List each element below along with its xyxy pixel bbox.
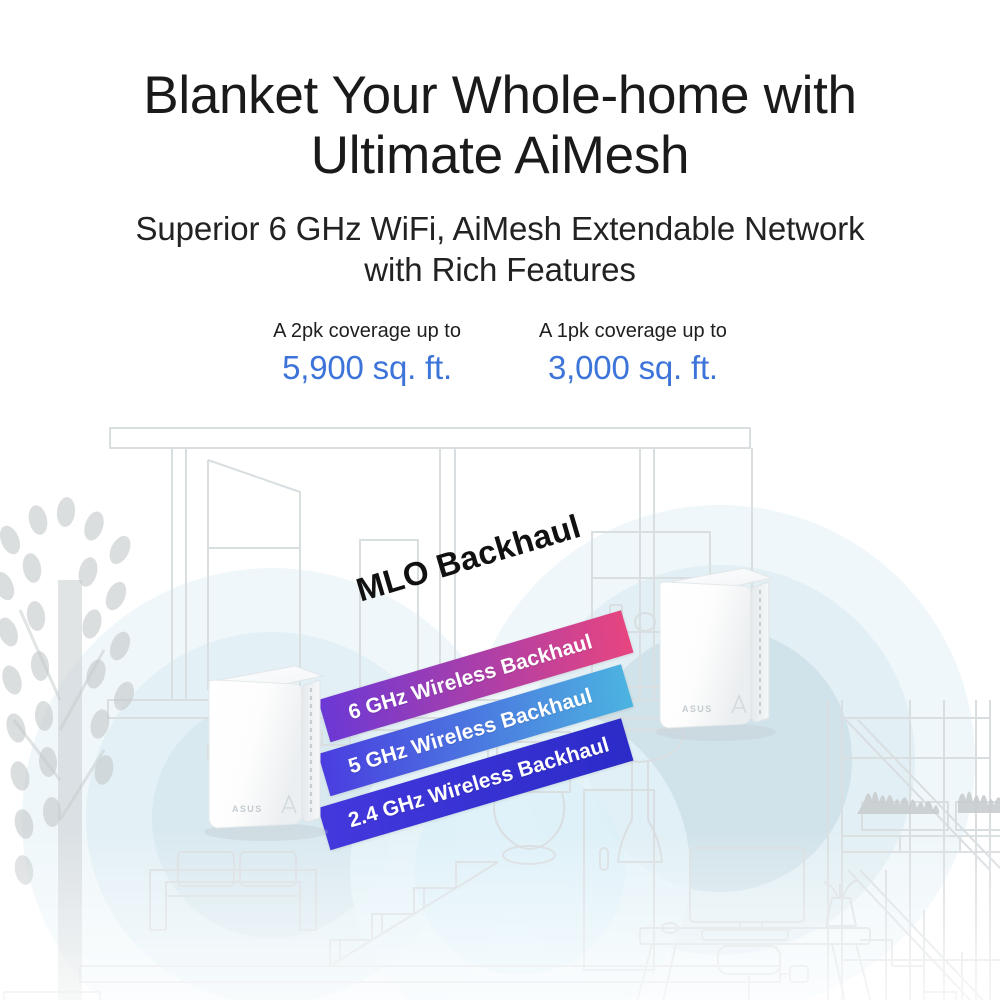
stat-2pk-label: A 2pk coverage up to bbox=[273, 318, 461, 344]
stat-1pk-label: A 1pk coverage up to bbox=[539, 318, 727, 344]
asus-logo: ASUS bbox=[232, 804, 263, 814]
promo-banner: ASUS bbox=[0, 0, 1000, 1000]
asus-logo: ASUS bbox=[682, 704, 713, 714]
page-title: Blanket Your Whole-home with Ultimate Ai… bbox=[0, 0, 1000, 186]
stat-2pk-value: 5,900 sq. ft. bbox=[282, 347, 452, 389]
subhead-line-2: with Rich Features bbox=[0, 249, 1000, 290]
headline-line-2: Ultimate AiMesh bbox=[0, 126, 1000, 186]
coverage-stats: A 2pk coverage up to 5,900 sq. ft. A 1pk… bbox=[0, 290, 1000, 389]
router-device-left: ASUS bbox=[196, 660, 346, 845]
marketing-copy: Blanket Your Whole-home with Ultimate Ai… bbox=[0, 0, 1000, 389]
house-illustration bbox=[0, 400, 1000, 1000]
router-device-right: ASUS bbox=[648, 562, 796, 744]
headline-line-1: Blanket Your Whole-home with bbox=[143, 66, 856, 125]
subhead-line-1: Superior 6 GHz WiFi, AiMesh Extendable N… bbox=[135, 210, 864, 247]
page-subtitle: Superior 6 GHz WiFi, AiMesh Extendable N… bbox=[0, 186, 1000, 290]
stat-2pk: A 2pk coverage up to 5,900 sq. ft. bbox=[273, 318, 461, 389]
stat-1pk: A 1pk coverage up to 3,000 sq. ft. bbox=[539, 318, 727, 389]
stat-1pk-value: 3,000 sq. ft. bbox=[548, 347, 718, 389]
